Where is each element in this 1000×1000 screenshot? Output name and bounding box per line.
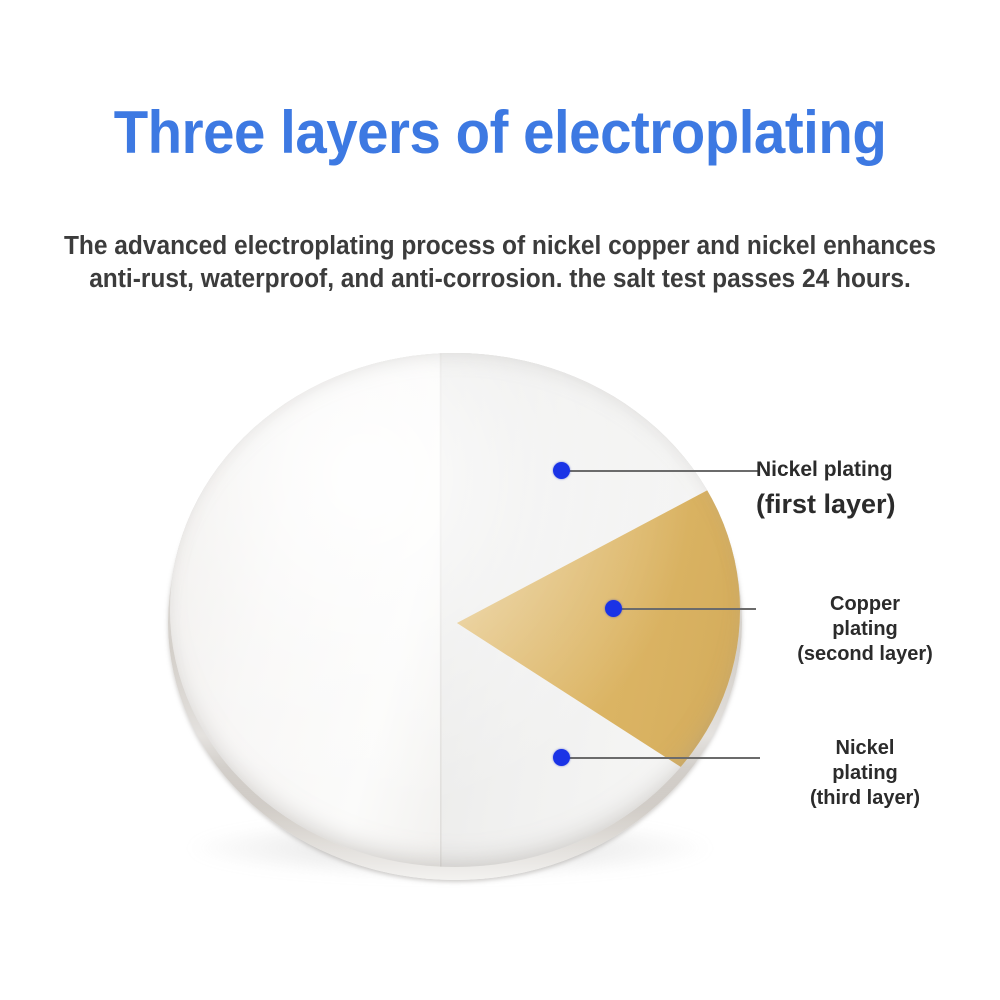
copper-plating-wedge — [170, 353, 740, 867]
callout-2-line-3: (second layer) — [756, 642, 974, 667]
callout-copper-second-layer: Copper plating (second layer) — [756, 592, 974, 667]
product-disc-illustration — [166, 348, 744, 890]
subtitle-line-1: The advanced electroplating process of n… — [39, 230, 961, 263]
marker-dot-nickel-third[interactable] — [553, 749, 570, 766]
leader-line-2 — [620, 608, 756, 610]
callout-3-line-1: Nickel — [756, 736, 974, 761]
callout-nickel-third-layer: Nickel plating (third layer) — [756, 736, 974, 811]
callout-1-line-1: Nickel plating — [756, 455, 992, 485]
subtitle-line-2: anti-rust, waterproof, and anti-corrosio… — [39, 263, 961, 296]
page-subtitle: The advanced electroplating process of n… — [39, 230, 961, 296]
callout-nickel-first-layer: Nickel plating (first layer) — [756, 455, 992, 523]
callout-1-line-2: (first layer) — [756, 485, 992, 523]
infographic-page: Three layers of electroplating The advan… — [0, 0, 1000, 1000]
disc-top-face — [170, 353, 740, 867]
callout-2-line-2: plating — [756, 617, 974, 642]
marker-dot-copper-second[interactable] — [605, 600, 622, 617]
leader-line-1 — [568, 470, 760, 472]
leader-line-3 — [568, 757, 760, 759]
callout-3-line-2: plating — [756, 761, 974, 786]
callout-3-line-3: (third layer) — [756, 786, 974, 811]
marker-dot-nickel-first[interactable] — [553, 462, 570, 479]
page-title: Three layers of electroplating — [30, 98, 970, 168]
callout-2-line-1: Copper — [756, 592, 974, 617]
